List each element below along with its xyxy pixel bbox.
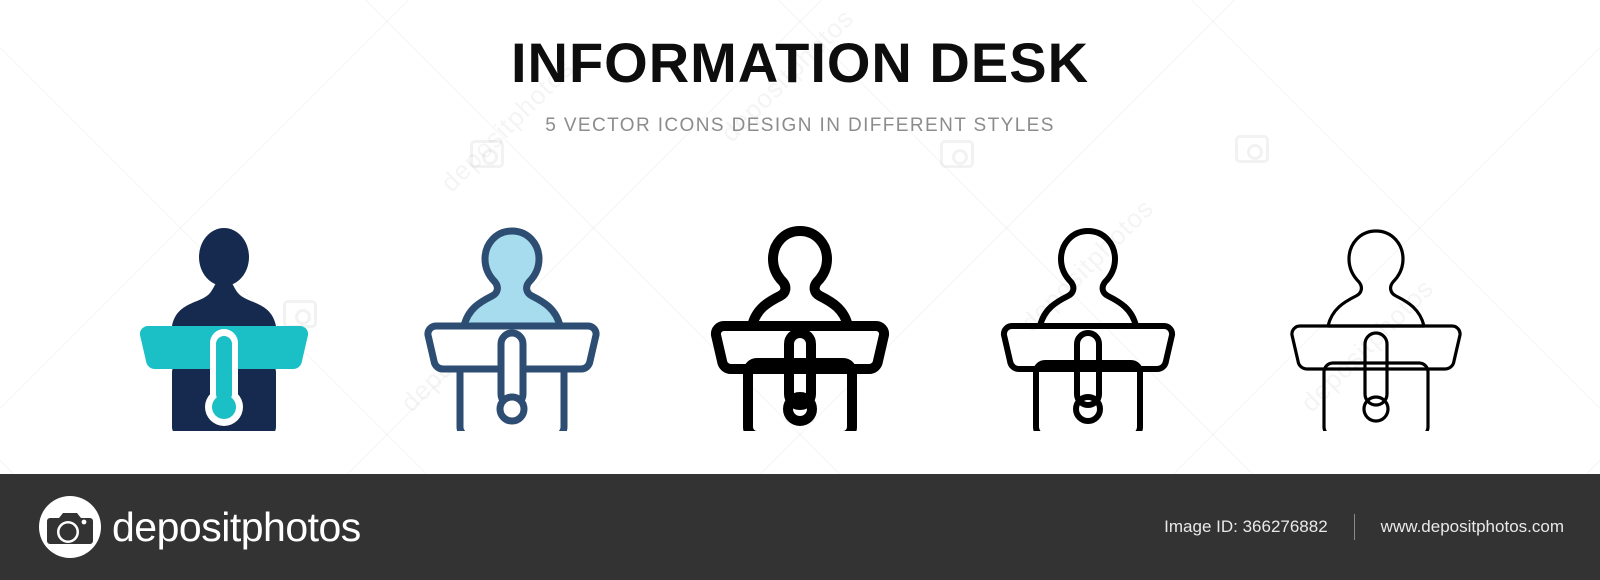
person-shape [752,231,848,326]
person-shape [464,231,560,326]
information-desk-glyph-duotone [412,211,612,431]
person-shape [1328,231,1424,326]
page-title: INFORMATION DESK [0,0,1600,93]
information-desk-icon-filled-duotone[interactable] [124,211,324,431]
image-id-label: Image ID: 366276882 [1164,517,1328,537]
camera-logo-icon [38,495,102,559]
footer-meta: Image ID: 366276882 www.depositphotos.co… [1164,514,1564,540]
watermark-camera-icon [470,140,504,168]
page-subtitle: 5 VECTOR ICONS DESIGN IN DIFFERENT STYLE… [0,93,1600,137]
watermark-camera-icon [1235,135,1269,163]
information-desk-icon-thin-line[interactable] [1276,211,1476,431]
person-shape [1040,231,1136,326]
footer-divider [1354,514,1355,540]
brand-logo-group[interactable]: depositphotos [38,495,361,559]
information-desk-glyph-filled [124,211,324,431]
exclamation-dot [1076,397,1100,421]
information-desk-icon-outline-duotone[interactable] [412,211,612,431]
exclamation-dot [1364,397,1388,421]
header: INFORMATION DESK 5 VECTOR ICONS DESIGN I… [0,0,1600,137]
footer-bar: depositphotos Image ID: 366276882 www.de… [0,474,1600,580]
information-desk-glyph-regular [988,211,1188,431]
information-desk-icon-bold-line[interactable] [700,211,900,431]
icon-gallery [0,206,1600,436]
exclamation-mark [500,333,524,421]
exclamation-mark [205,329,243,426]
information-desk-glyph-thin [1276,211,1476,431]
watermark-camera-icon [940,140,974,168]
brand-name: depositphotos [112,504,361,551]
website-link[interactable]: www.depositphotos.com [1381,517,1564,537]
information-desk-glyph-bold [700,211,900,431]
person-shape [172,228,276,326]
information-desk-icon-regular-line[interactable] [988,211,1188,431]
